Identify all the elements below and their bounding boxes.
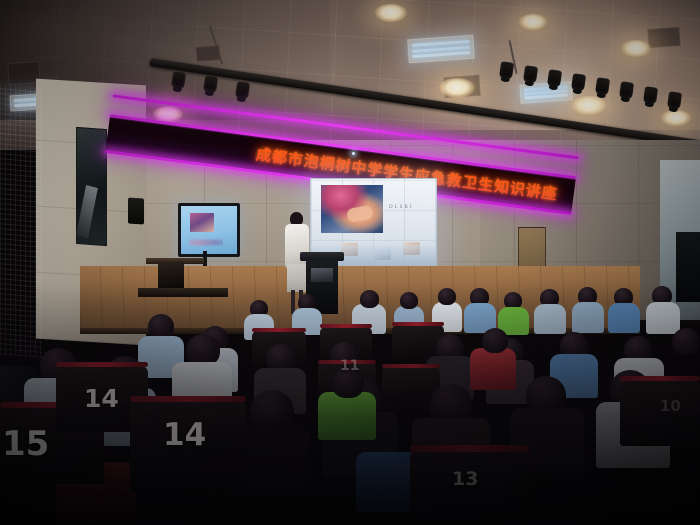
side-monitor-slide-photo [190, 213, 214, 232]
ceiling-vent [647, 27, 680, 48]
recessed-downlight [660, 110, 692, 127]
side-monitor-slide-thumbs [189, 237, 223, 248]
recessed-downlight [570, 96, 608, 116]
seat-number: 10 [660, 397, 681, 415]
seat-number: 11 [340, 358, 359, 374]
auditorium-photo: 成都市泡桐树中学学生应急救卫生知识讲座 DLSKI [0, 0, 700, 525]
wall-mounted-speaker [128, 197, 144, 224]
recessed-downlight [518, 14, 548, 31]
side-monitor-screen [181, 206, 237, 254]
recessed-downlight [374, 4, 408, 23]
fluorescent-panel-light [407, 35, 475, 64]
seat-number: 14 [163, 417, 206, 453]
panel-glint [76, 185, 98, 238]
banner-indicator-light [352, 152, 355, 155]
side-monitor [178, 203, 240, 257]
seat-number: 13 [452, 468, 478, 490]
seat-number: 14 [84, 384, 119, 413]
slide-cpr-photo [321, 185, 383, 233]
recessed-downlight [438, 78, 476, 99]
recessed-downlight [620, 40, 652, 58]
slide-caption: DLSKI [389, 205, 414, 210]
wall-mounted-dark-panel [76, 127, 107, 246]
seat-number: 15 [2, 424, 49, 464]
slide-hands-detail [346, 205, 374, 223]
